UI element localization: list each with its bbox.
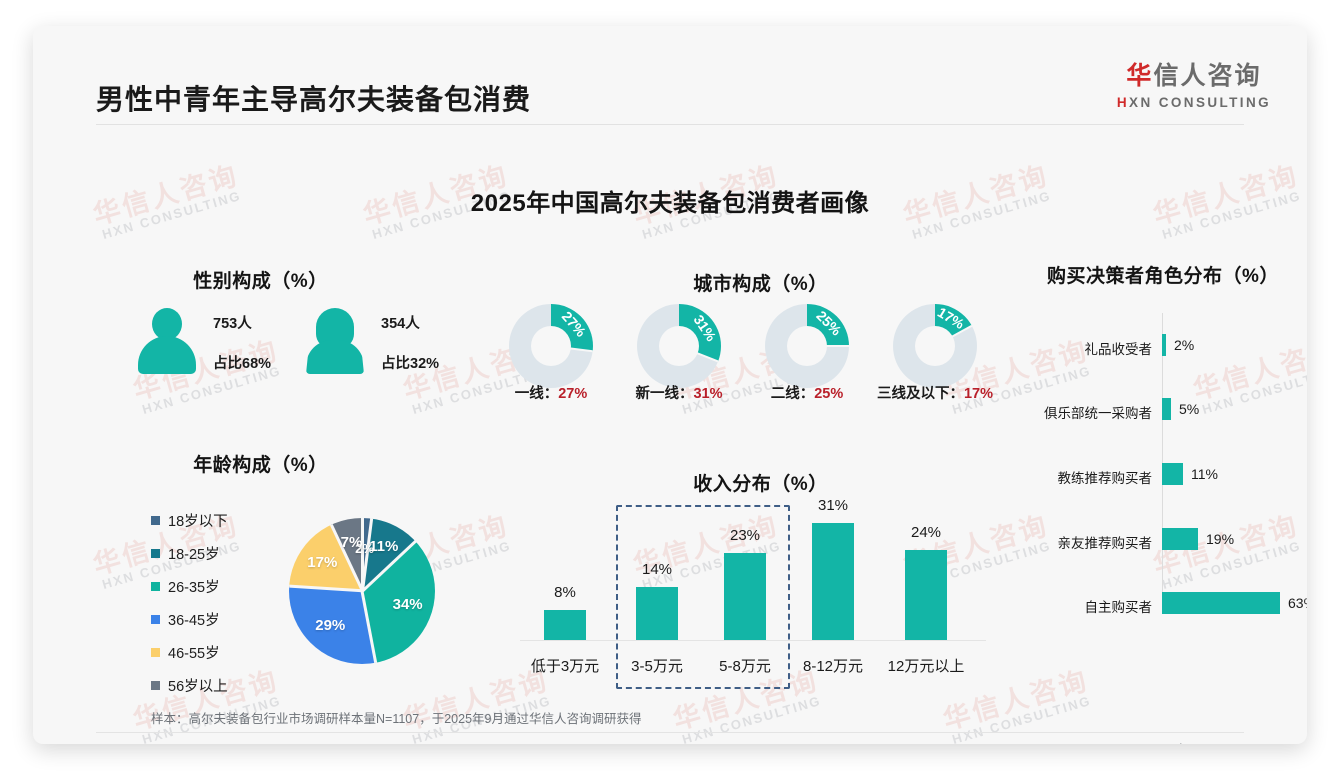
legend-label: 36-45岁 — [168, 609, 220, 630]
income-bar — [724, 553, 766, 640]
legend-label: 18岁以下 — [168, 510, 228, 531]
header-divider — [96, 124, 1244, 125]
city-name: 新一线： — [635, 386, 693, 402]
gender-section-title: 性别构成（%） — [33, 266, 488, 293]
legend-swatch-icon — [151, 582, 160, 591]
pie-legend-item: 18-25岁 — [151, 543, 220, 564]
pie-legend-item: 56岁以上 — [151, 675, 228, 696]
website-url: www.hxrcon.com — [1150, 742, 1244, 744]
income-category-label: 12万元以上 — [871, 655, 981, 676]
income-value-label: 8% — [520, 584, 610, 601]
city-donut-4: 17% — [893, 304, 977, 388]
role-category-label: 俱乐部统一采购者 — [1012, 402, 1152, 422]
header: 男性中青年主导高尔夫装备包消费 华信人咨询 HXN CONSULTING — [33, 26, 1307, 124]
donut-separator — [807, 345, 849, 347]
role-bar — [1162, 334, 1166, 356]
city-section-title: 城市构成（%） — [488, 269, 1033, 296]
logo-english-red: H — [1117, 95, 1129, 110]
subtitle: 2025年中国高尔夫装备包消费者画像 — [33, 183, 1307, 218]
legend-swatch-icon — [151, 648, 160, 657]
legend-swatch-icon — [151, 615, 160, 624]
legend-swatch-icon — [151, 681, 160, 690]
city-label: 三线及以下：17% — [877, 382, 993, 403]
watermark: 华信人咨询HXN CONSULTING — [1190, 336, 1307, 418]
city-label: 一线：27% — [515, 382, 588, 403]
legend-label: 26-35岁 — [168, 576, 220, 597]
city-percent: 27% — [558, 386, 587, 402]
city-label: 二线：25% — [771, 382, 844, 403]
copyright-text: ©2025.11 HXR华信人咨询 — [96, 742, 242, 744]
role-bar — [1162, 463, 1183, 485]
pie-legend-item: 46-55岁 — [151, 642, 220, 663]
legend-swatch-icon — [151, 549, 160, 558]
income-bar — [636, 587, 678, 640]
legend-swatch-icon — [151, 516, 160, 525]
pie-slice-label: 7% — [334, 534, 370, 551]
logo-chinese: 华信人咨询 — [1117, 56, 1271, 92]
gender-count: 354人 — [381, 312, 420, 333]
pie-legend-item: 18岁以下 — [151, 510, 228, 531]
pie-slice-label: 29% — [312, 617, 348, 634]
city-donut-2: 31% — [637, 304, 721, 388]
logo-english-rest: XN CONSULTING — [1129, 95, 1271, 110]
role-bar — [1162, 528, 1198, 550]
watermark: 华信人咨询HXN CONSULTING — [1150, 511, 1306, 593]
income-value-label: 31% — [788, 497, 878, 514]
income-bar — [812, 523, 854, 640]
role-bar — [1162, 398, 1171, 420]
pie-separator — [289, 585, 362, 592]
infographic-card: 华信人咨询HXN CONSULTING华信人咨询HXN CONSULTING华信… — [33, 26, 1307, 744]
city-percent: 31% — [693, 386, 722, 402]
city-name: 三线及以下： — [877, 386, 964, 402]
income-value-label: 23% — [700, 527, 790, 544]
pie-separator — [361, 591, 377, 663]
role-category-label: 教练推荐购买者 — [1012, 467, 1152, 487]
city-label: 新一线：31% — [635, 382, 722, 403]
pie-slice-label: 17% — [304, 554, 340, 571]
legend-label: 18-25岁 — [168, 543, 220, 564]
logo-chinese-red: 华 — [1126, 62, 1153, 90]
role-value-label: 11% — [1191, 466, 1218, 482]
pie-legend-item: 36-45岁 — [151, 609, 220, 630]
legend-label: 46-55岁 — [168, 642, 220, 663]
logo-chinese-rest: 信人咨询 — [1153, 62, 1261, 90]
gender-share: 占比68% — [213, 352, 271, 373]
city-percent: 17% — [964, 386, 993, 402]
city-name: 一线： — [515, 386, 559, 402]
pie-slice-label: 11% — [366, 538, 402, 555]
age-section-title: 年龄构成（%） — [33, 450, 488, 477]
city-percent: 25% — [814, 386, 843, 402]
role-bar — [1162, 592, 1280, 614]
page-title: 男性中青年主导高尔夫装备包消费 — [96, 78, 531, 118]
income-section-title: 收入分布（%） — [488, 469, 1033, 496]
income-value-label: 24% — [881, 524, 971, 541]
role-value-label: 2% — [1174, 337, 1194, 353]
income-bar — [544, 610, 586, 640]
role-category-label: 自主购买者 — [1012, 596, 1152, 616]
gender-share: 占比32% — [381, 352, 439, 373]
income-bar — [905, 550, 947, 640]
city-donut-3: 25% — [765, 304, 849, 388]
logo-english: HXN CONSULTING — [1117, 95, 1271, 110]
role-section-title: 购买决策者角色分布（%） — [1018, 261, 1307, 288]
role-category-label: 亲友推荐购买者 — [1012, 532, 1152, 552]
brand-logo: 华信人咨询 HXN CONSULTING — [1117, 56, 1271, 110]
role-value-label: 63% — [1288, 595, 1307, 611]
role-category-label: 礼品收受者 — [1012, 338, 1152, 358]
city-name: 二线： — [771, 386, 815, 402]
pie-slice-label: 34% — [390, 596, 426, 613]
footer-divider — [96, 732, 1244, 733]
role-value-label: 19% — [1206, 531, 1234, 547]
pie-legend-item: 26-35岁 — [151, 576, 220, 597]
role-value-label: 5% — [1179, 401, 1199, 417]
city-donut-1: 27% — [509, 304, 593, 388]
gender-count: 753人 — [213, 312, 252, 333]
income-value-label: 14% — [612, 561, 702, 578]
legend-label: 56岁以上 — [168, 675, 228, 696]
sample-note: 样本：高尔夫装备包行业市场调研样本量N=1107，于2025年9月通过华信人咨询… — [151, 708, 641, 727]
